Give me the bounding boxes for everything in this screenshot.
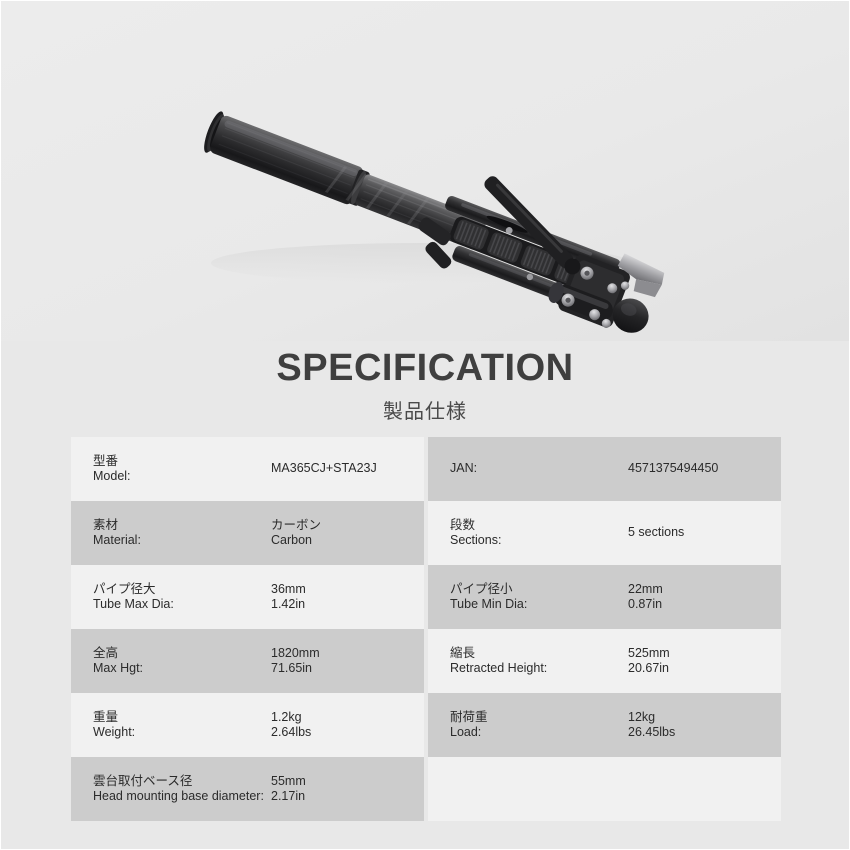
- spec-label-en: Sections:: [450, 533, 628, 549]
- specification-title-block: SPECIFICATION 製品仕様: [1, 349, 849, 424]
- spec-label-ja: 素材: [93, 518, 271, 534]
- spec-label: 耐荷重Load:: [450, 710, 628, 741]
- spec-value-line1: 525mm: [628, 646, 670, 662]
- spec-row-empty: [428, 757, 781, 821]
- spec-value: 1.2kg2.64lbs: [271, 710, 311, 741]
- spec-value: 1820mm71.65in: [271, 646, 320, 677]
- spec-row: 素材Material:カーボンCarbon: [71, 501, 424, 565]
- spec-label: 全高Max Hgt:: [93, 646, 271, 677]
- spec-label-ja: 型番: [93, 454, 271, 470]
- spec-value-line2: 2.64lbs: [271, 725, 311, 741]
- spec-value: 36mm1.42in: [271, 582, 306, 613]
- spec-value-line2: 2.17in: [271, 789, 306, 805]
- spec-label-ja: 段数: [450, 518, 628, 534]
- spec-row: 型番Model:MA365CJ+STA23J: [71, 437, 424, 501]
- spec-label: JAN:: [450, 461, 628, 477]
- page-title: SPECIFICATION: [1, 349, 849, 389]
- spec-value-line1: 55mm: [271, 774, 306, 790]
- spec-value: カーボンCarbon: [271, 518, 321, 549]
- page-subtitle: 製品仕様: [1, 395, 849, 424]
- spec-column-right: JAN:4571375494450段数Sections:5 sectionsパイ…: [428, 437, 781, 821]
- spec-label-ja: パイプ径小: [450, 582, 628, 598]
- spec-value: 12kg26.45lbs: [628, 710, 675, 741]
- spec-value: 55mm2.17in: [271, 774, 306, 805]
- spec-label: 重量Weight:: [93, 710, 271, 741]
- spec-row: 全高Max Hgt:1820mm71.65in: [71, 629, 424, 693]
- spec-label: 型番Model:: [93, 454, 271, 485]
- spec-value: 22mm0.87in: [628, 582, 663, 613]
- spec-row: パイプ径小Tube Min Dia:22mm0.87in: [428, 565, 781, 629]
- spec-label-en: Material:: [93, 533, 271, 549]
- spec-value-line1: 5 sections: [628, 525, 684, 541]
- spec-label-en: Head mounting base diameter:: [93, 789, 271, 805]
- spec-label-en: Tube Min Dia:: [450, 597, 628, 613]
- spec-label-en: Tube Max Dia:: [93, 597, 271, 613]
- spec-value-line1: 22mm: [628, 582, 663, 598]
- spec-label: 縮長Retracted Height:: [450, 646, 628, 677]
- spec-value: 5 sections: [628, 525, 684, 541]
- spec-value: 4571375494450: [628, 461, 718, 477]
- spec-value-line1: 1.2kg: [271, 710, 311, 726]
- spec-row: 段数Sections:5 sections: [428, 501, 781, 565]
- spec-label-ja: 重量: [93, 710, 271, 726]
- spec-label-en: Weight:: [93, 725, 271, 741]
- spec-value-line1: 4571375494450: [628, 461, 718, 477]
- spec-value-line2: 0.87in: [628, 597, 663, 613]
- spec-label-ja: 縮長: [450, 646, 628, 662]
- spec-label: パイプ径小Tube Min Dia:: [450, 582, 628, 613]
- spec-label: 素材Material:: [93, 518, 271, 549]
- spec-label: 雲台取付ベース径Head mounting base diameter:: [93, 774, 271, 805]
- spec-column-left: 型番Model:MA365CJ+STA23J素材Material:カーボンCar…: [71, 437, 424, 821]
- spec-value-line1: 1820mm: [271, 646, 320, 662]
- spec-label-en: Load:: [450, 725, 628, 741]
- spec-row: JAN:4571375494450: [428, 437, 781, 501]
- spec-value-line1: MA365CJ+STA23J: [271, 461, 377, 477]
- spec-value-line2: 20.67in: [628, 661, 670, 677]
- spec-value-line2: 1.42in: [271, 597, 306, 613]
- spec-value: 525mm20.67in: [628, 646, 670, 677]
- spec-row: 縮長Retracted Height:525mm20.67in: [428, 629, 781, 693]
- spec-row: 耐荷重Load:12kg26.45lbs: [428, 693, 781, 757]
- spec-value-line2: Carbon: [271, 533, 321, 549]
- spec-label-ja: パイプ径大: [93, 582, 271, 598]
- spec-label-ja: 耐荷重: [450, 710, 628, 726]
- spec-label-ja: 全高: [93, 646, 271, 662]
- spec-label: パイプ径大Tube Max Dia:: [93, 582, 271, 613]
- spec-value: MA365CJ+STA23J: [271, 461, 377, 477]
- spec-value-line1: 12kg: [628, 710, 675, 726]
- spec-label-en: Model:: [93, 469, 271, 485]
- spec-value-line1: カーボン: [271, 518, 321, 534]
- spec-row: パイプ径大Tube Max Dia:36mm1.42in: [71, 565, 424, 629]
- specification-table: 型番Model:MA365CJ+STA23J素材Material:カーボンCar…: [71, 437, 781, 821]
- spec-value-line2: 26.45lbs: [628, 725, 675, 741]
- spec-label-en: JAN:: [450, 461, 628, 477]
- product-image-area: [1, 1, 849, 341]
- spec-value-line2: 71.65in: [271, 661, 320, 677]
- spec-label-en: Max Hgt:: [93, 661, 271, 677]
- spec-row: 雲台取付ベース径Head mounting base diameter:55mm…: [71, 757, 424, 821]
- monopod-product-photo: [1, 1, 849, 341]
- spec-label-ja: 雲台取付ベース径: [93, 774, 271, 790]
- spec-row: 重量Weight:1.2kg2.64lbs: [71, 693, 424, 757]
- spec-value-line1: 36mm: [271, 582, 306, 598]
- spec-label-en: Retracted Height:: [450, 661, 628, 677]
- spec-label: 段数Sections:: [450, 518, 628, 549]
